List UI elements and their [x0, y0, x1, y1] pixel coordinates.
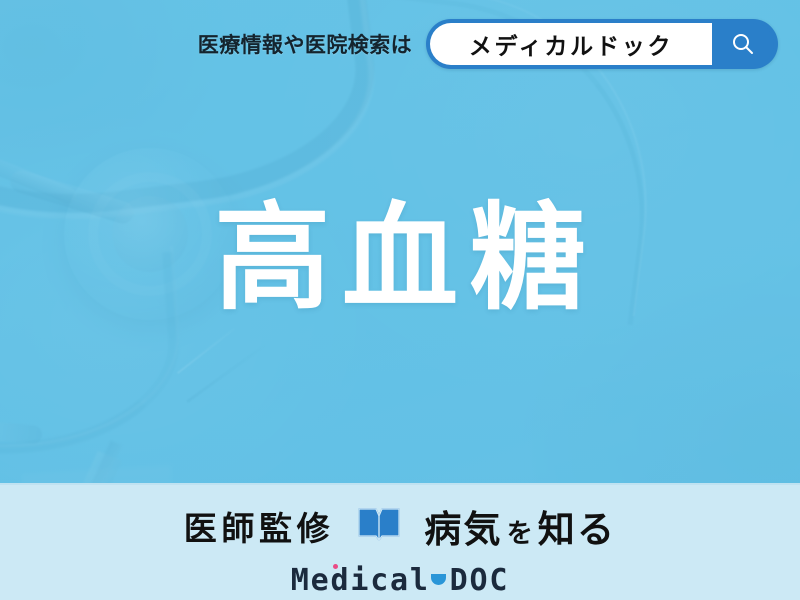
supervised-label: 医師監修	[184, 502, 334, 550]
open-book-icon	[356, 504, 402, 549]
search-header: 医療情報や医院検索は メディカルドック	[0, 0, 800, 88]
search-bar[interactable]: メディカルドック	[426, 19, 778, 69]
header-tagline: 医療情報や医院検索は	[198, 29, 412, 59]
know-label-kanji-a: 病気	[424, 499, 502, 553]
search-input[interactable]: メディカルドック	[430, 23, 712, 65]
know-disease-label: 病気 を 知る	[424, 499, 616, 553]
band-tagline-row: 医師監修 病気 を 知る	[0, 495, 800, 557]
know-label-kana: を	[503, 513, 538, 550]
site-logo-area[interactable]: Medical DOC	[0, 561, 800, 599]
hero-title-area: 高血糖	[0, 196, 800, 321]
medical-doc-hero-banner: 医療情報や医院検索は メディカルドック 高血糖 医師監修	[0, 0, 800, 600]
search-submit-button[interactable]	[712, 23, 774, 65]
logo-i-dot	[333, 564, 338, 569]
site-logo-text: Medical DOC	[291, 563, 509, 598]
logo-o-capsule-fill	[431, 574, 446, 585]
bottom-band: 医師監修 病気 を 知る Medical DOC	[0, 483, 800, 600]
search-icon	[730, 31, 756, 57]
site-logo[interactable]: Medical DOC	[291, 563, 509, 598]
search-input-value: メディカルドック	[469, 27, 673, 61]
page-title: 高血糖	[203, 196, 597, 321]
know-label-kanji-b: 知る	[538, 499, 616, 553]
